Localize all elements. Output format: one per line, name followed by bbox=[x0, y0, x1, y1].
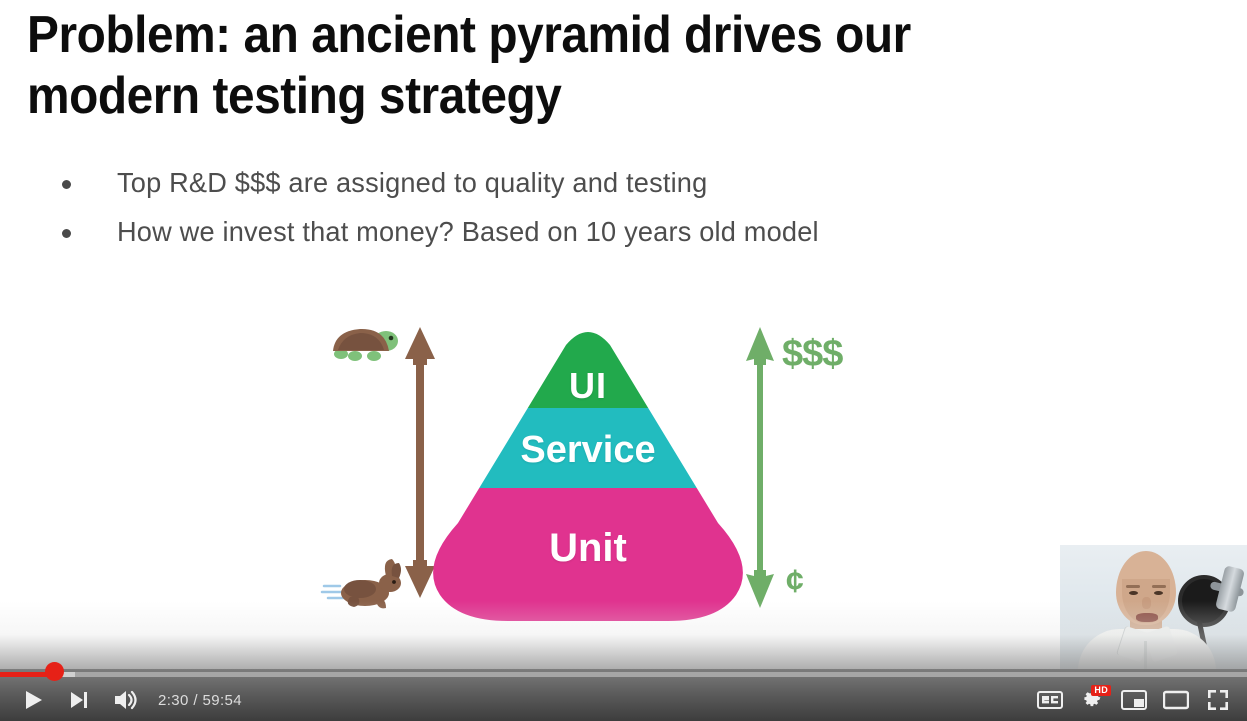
volume-icon bbox=[113, 689, 137, 711]
time-display: 2:30 / 59:54 bbox=[158, 679, 242, 721]
player-right-controls: HD bbox=[1029, 679, 1239, 721]
bullet-text: Top R&D $$$ are assigned to quality and … bbox=[117, 163, 707, 203]
progress-track[interactable] bbox=[0, 672, 1247, 677]
pyramid-label-ui: UI bbox=[418, 365, 758, 407]
presenter-webcam-overlay bbox=[1060, 545, 1247, 681]
presenter-eye-right bbox=[1154, 591, 1163, 595]
page-title: Problem: an ancient pyramid drives our m… bbox=[27, 5, 1002, 128]
player-left-controls: 2:30 / 59:54 bbox=[10, 679, 242, 721]
cc-icon bbox=[1037, 691, 1063, 709]
presenter-mouth bbox=[1136, 613, 1158, 622]
cost-arrow-icon bbox=[740, 325, 780, 610]
theater-button[interactable] bbox=[1155, 679, 1197, 721]
presenter-nose bbox=[1142, 597, 1151, 609]
fullscreen-button[interactable] bbox=[1197, 679, 1239, 721]
theater-icon bbox=[1163, 690, 1189, 710]
presenter-shirt-placket bbox=[1144, 641, 1147, 671]
hd-badge: HD bbox=[1091, 685, 1111, 696]
miniplayer-button[interactable] bbox=[1113, 679, 1155, 721]
turtle-icon bbox=[325, 321, 401, 363]
bullet-dot-icon bbox=[62, 180, 71, 189]
bullet-text: How we invest that money? Based on 10 ye… bbox=[117, 212, 819, 252]
miniplayer-icon bbox=[1121, 690, 1147, 710]
pyramid-label-unit: Unit bbox=[418, 526, 758, 571]
video-player-stage: Problem: an ancient pyramid drives our m… bbox=[0, 0, 1247, 721]
settings-button[interactable]: HD bbox=[1071, 679, 1113, 721]
cost-label-high: $$$ bbox=[782, 333, 842, 376]
pyramid-label-service: Service bbox=[418, 429, 758, 472]
fullscreen-icon bbox=[1207, 689, 1229, 711]
presenter-brow-right bbox=[1152, 585, 1166, 588]
test-automation-pyramid-diagram: UI Service Unit $$$ ¢ bbox=[300, 315, 900, 620]
progress-bar[interactable] bbox=[0, 669, 1247, 679]
presenter-eye-left bbox=[1129, 591, 1138, 595]
next-icon bbox=[68, 690, 90, 710]
bullet-dot-icon bbox=[62, 229, 71, 238]
list-item: Top R&D $$$ are assigned to quality and … bbox=[50, 163, 1100, 203]
volume-button[interactable] bbox=[102, 679, 148, 721]
play-button[interactable] bbox=[10, 679, 56, 721]
rabbit-icon bbox=[320, 555, 412, 611]
next-video-button[interactable] bbox=[56, 679, 102, 721]
bullet-list: Top R&D $$$ are assigned to quality and … bbox=[50, 163, 1100, 261]
list-item: How we invest that money? Based on 10 ye… bbox=[50, 212, 1100, 252]
play-icon bbox=[22, 689, 44, 711]
player-controls-bar: 2:30 / 59:54 bbox=[0, 669, 1247, 721]
presenter-brow-left bbox=[1126, 585, 1140, 588]
cost-label-low: ¢ bbox=[786, 563, 804, 600]
captions-button[interactable] bbox=[1029, 679, 1071, 721]
pyramid-shape: UI Service Unit bbox=[418, 325, 758, 623]
